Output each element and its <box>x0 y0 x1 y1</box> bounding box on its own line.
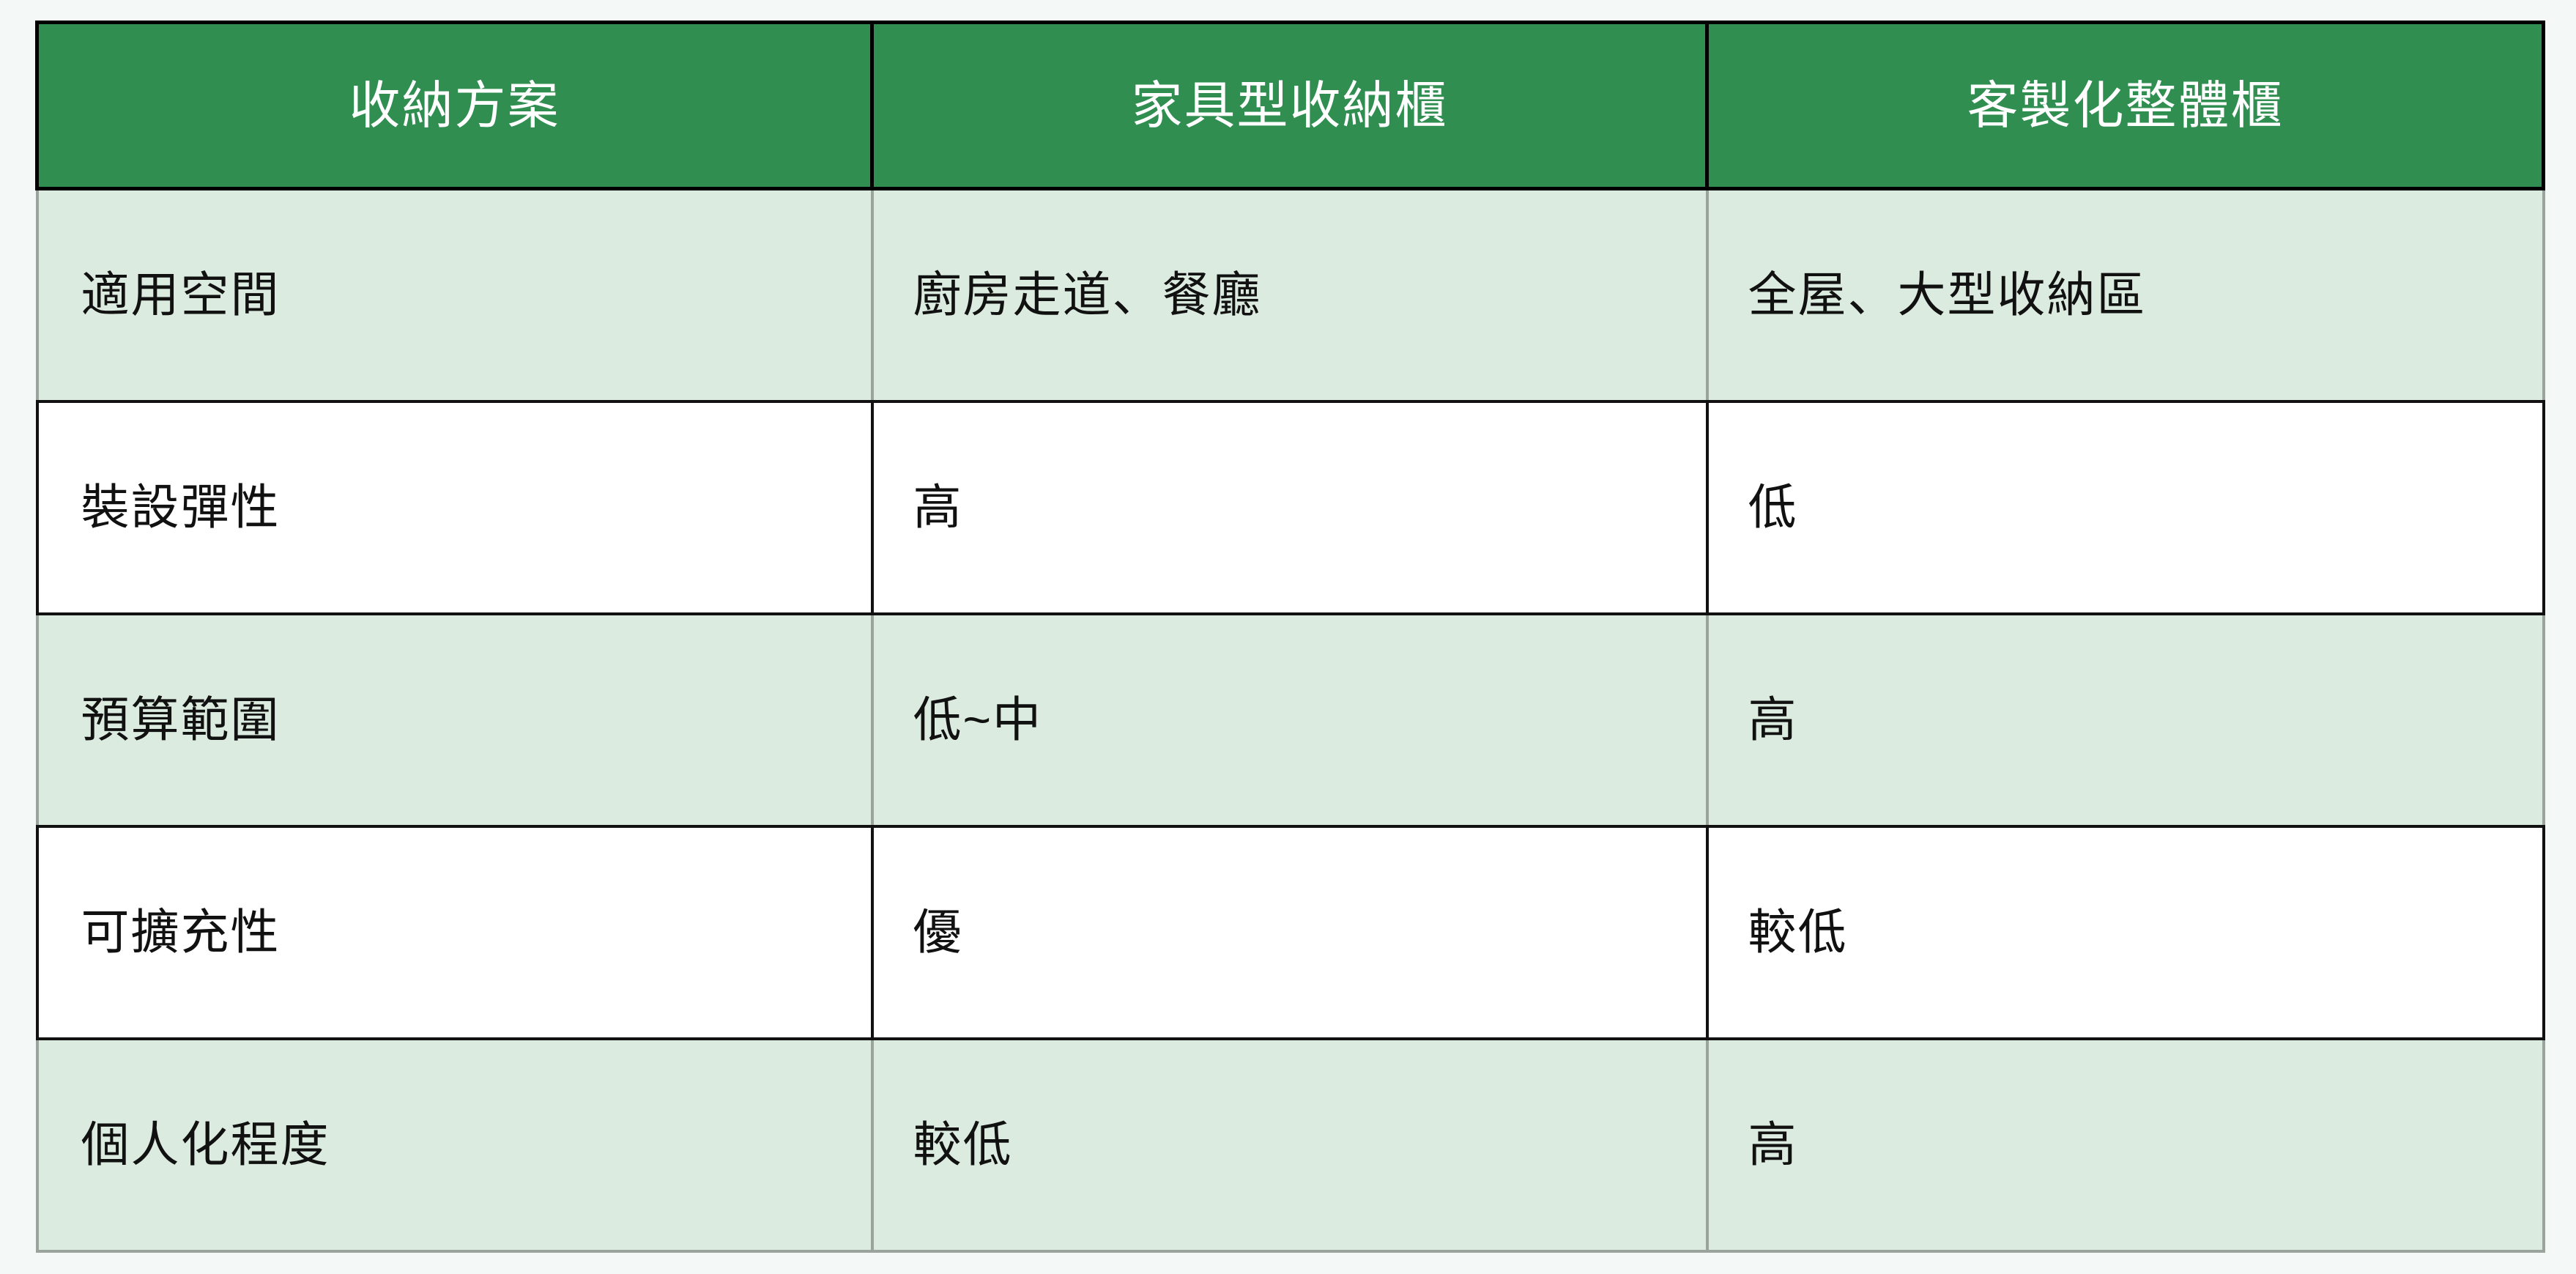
column-header-scheme: 收納方案 <box>37 23 872 189</box>
cell-furniture-personalization-level: 較低 <box>872 1039 1707 1251</box>
cell-furniture-budget-range: 低~中 <box>872 614 1707 826</box>
table-row: 預算範圍 低~中 高 <box>37 614 2544 826</box>
cell-furniture-suitable-space: 廚房走道、餐廳 <box>872 189 1707 401</box>
row-label-personalization-level: 個人化程度 <box>37 1039 872 1251</box>
table-row: 適用空間 廚房走道、餐廳 全屋、大型收納區 <box>37 189 2544 401</box>
cell-custom-installation-flexibility: 低 <box>1707 401 2544 614</box>
table-row: 裝設彈性 高 低 <box>37 401 2544 614</box>
column-header-custom-cabinet: 客製化整體櫃 <box>1707 23 2544 189</box>
row-label-installation-flexibility: 裝設彈性 <box>37 401 872 614</box>
column-header-furniture-cabinet: 家具型收納櫃 <box>872 23 1707 189</box>
cell-custom-budget-range: 高 <box>1707 614 2544 826</box>
comparison-table-container: 收納方案 家具型收納櫃 客製化整體櫃 適用空間 廚房走道、餐廳 全屋、大型收納區… <box>35 21 2542 1249</box>
row-label-expandability: 可擴充性 <box>37 826 872 1039</box>
storage-solution-comparison-table: 收納方案 家具型收納櫃 客製化整體櫃 適用空間 廚房走道、餐廳 全屋、大型收納區… <box>35 21 2545 1253</box>
table-row: 可擴充性 優 較低 <box>37 826 2544 1039</box>
cell-custom-personalization-level: 高 <box>1707 1039 2544 1251</box>
row-label-suitable-space: 適用空間 <box>37 189 872 401</box>
table-body: 適用空間 廚房走道、餐廳 全屋、大型收納區 裝設彈性 高 低 預算範圍 低~中 … <box>37 189 2544 1251</box>
cell-furniture-installation-flexibility: 高 <box>872 401 1707 614</box>
table-header-row: 收納方案 家具型收納櫃 客製化整體櫃 <box>37 23 2544 189</box>
cell-custom-suitable-space: 全屋、大型收納區 <box>1707 189 2544 401</box>
cell-furniture-expandability: 優 <box>872 826 1707 1039</box>
table-row: 個人化程度 較低 高 <box>37 1039 2544 1251</box>
table-header: 收納方案 家具型收納櫃 客製化整體櫃 <box>37 23 2544 189</box>
cell-custom-expandability: 較低 <box>1707 826 2544 1039</box>
row-label-budget-range: 預算範圍 <box>37 614 872 826</box>
